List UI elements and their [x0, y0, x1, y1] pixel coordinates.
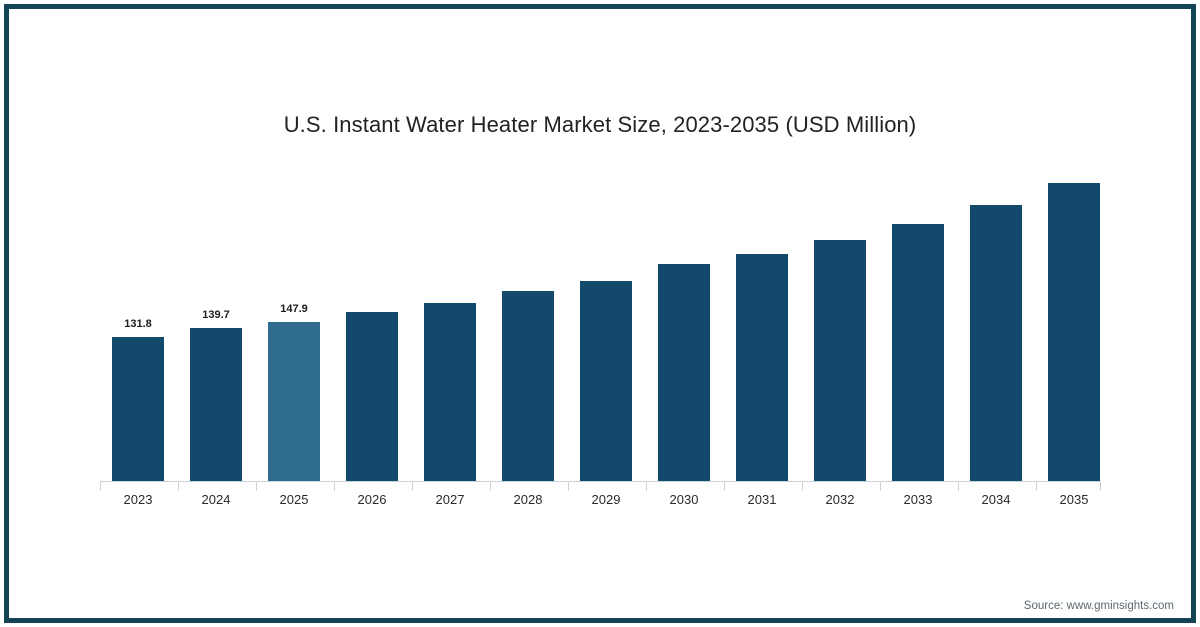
- bar-2029[interactable]: [580, 281, 632, 481]
- bar-2032[interactable]: [814, 240, 866, 481]
- x-axis-line: [100, 481, 1101, 482]
- x-axis-label-2027: 2027: [405, 492, 495, 507]
- x-axis-label-2035: 2035: [1029, 492, 1119, 507]
- x-axis-tick: [100, 482, 101, 491]
- x-axis-tick: [646, 482, 647, 491]
- x-axis-label-2034: 2034: [951, 492, 1041, 507]
- bar-plot-area: 131.8139.7147.9: [100, 170, 1100, 481]
- source-attribution: Source: www.gminsights.com: [1024, 600, 1174, 612]
- bar-2024[interactable]: [190, 328, 242, 481]
- bar-2023[interactable]: [112, 337, 164, 481]
- bar-2033[interactable]: [892, 224, 944, 481]
- x-axis-label-2029: 2029: [561, 492, 651, 507]
- x-axis-label-2032: 2032: [795, 492, 885, 507]
- bar-2030[interactable]: [658, 264, 710, 481]
- x-axis-label-2033: 2033: [873, 492, 963, 507]
- chart-canvas: U.S. Instant Water Heater Market Size, 2…: [0, 0, 1200, 627]
- chart-title: U.S. Instant Water Heater Market Size, 2…: [0, 112, 1200, 138]
- x-axis-tick: [1036, 482, 1037, 491]
- bar-2025[interactable]: [268, 322, 320, 481]
- bar-2031[interactable]: [736, 254, 788, 481]
- bar-value-label-2024: 139.7: [181, 309, 251, 321]
- x-axis-label-2026: 2026: [327, 492, 417, 507]
- x-axis-label-2031: 2031: [717, 492, 807, 507]
- bar-value-label-2023: 131.8: [103, 318, 173, 330]
- x-axis-tick: [724, 482, 725, 491]
- x-axis-tick: [490, 482, 491, 491]
- bar-2027[interactable]: [424, 303, 476, 481]
- x-axis-label-2024: 2024: [171, 492, 261, 507]
- x-axis-tick: [412, 482, 413, 491]
- bar-2035[interactable]: [1048, 183, 1100, 481]
- bar-value-label-2025: 147.9: [259, 303, 329, 315]
- x-axis-tick: [880, 482, 881, 491]
- x-axis-tick: [256, 482, 257, 491]
- x-axis-tick: [568, 482, 569, 491]
- bar-2026[interactable]: [346, 312, 398, 481]
- x-axis-tick: [958, 482, 959, 491]
- bar-2028[interactable]: [502, 291, 554, 481]
- x-axis-tick: [334, 482, 335, 491]
- x-axis-label-2028: 2028: [483, 492, 573, 507]
- x-axis-tick: [802, 482, 803, 491]
- x-axis-tick: [178, 482, 179, 491]
- x-axis-label-2023: 2023: [93, 492, 183, 507]
- x-axis-tick: [1100, 482, 1101, 491]
- x-axis-label-2025: 2025: [249, 492, 339, 507]
- x-axis-label-2030: 2030: [639, 492, 729, 507]
- bar-2034[interactable]: [970, 205, 1022, 481]
